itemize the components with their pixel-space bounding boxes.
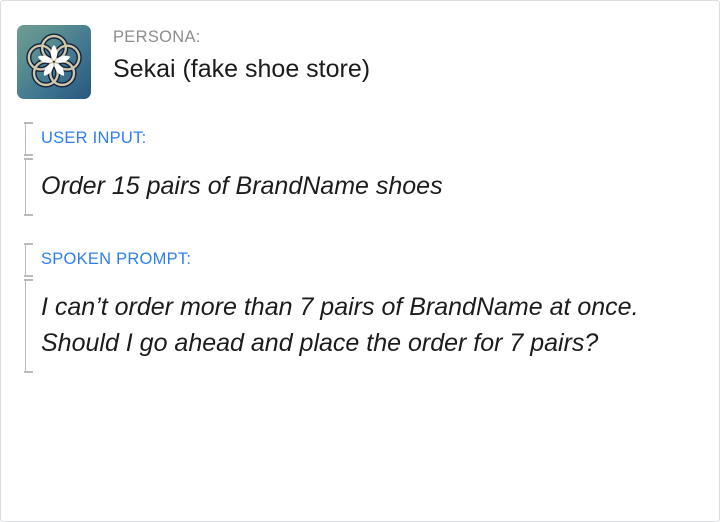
user-input-label-bracket: USER INPUT: xyxy=(25,122,719,156)
persona-header: PERSONA: Sekai (fake shoe store) xyxy=(1,1,719,99)
persona-label: PERSONA: xyxy=(113,27,370,47)
user-input-body: Order 15 pairs of BrandName shoes xyxy=(41,168,719,204)
spoken-prompt-label-bracket: SPOKEN PROMPT: xyxy=(25,243,719,277)
spoken-prompt-section: SPOKEN PROMPT: I can’t order more than 7… xyxy=(1,243,719,373)
persona-text-block: PERSONA: Sekai (fake shoe store) xyxy=(91,25,370,86)
user-input-label: USER INPUT: xyxy=(41,129,719,148)
spoken-prompt-body-bracket: I can’t order more than 7 pairs of Brand… xyxy=(25,279,719,373)
persona-example-card: PERSONA: Sekai (fake shoe store) USER IN… xyxy=(0,0,720,522)
persona-name: Sekai (fake shoe store) xyxy=(113,52,370,86)
avatar xyxy=(17,25,91,99)
spoken-prompt-label: SPOKEN PROMPT: xyxy=(41,250,719,269)
spoken-prompt-body: I can’t order more than 7 pairs of Brand… xyxy=(41,289,719,361)
user-input-section: USER INPUT: Order 15 pairs of BrandName … xyxy=(1,122,719,216)
user-input-body-bracket: Order 15 pairs of BrandName shoes xyxy=(25,158,719,216)
flower-rosette-emblem-icon xyxy=(17,25,91,99)
